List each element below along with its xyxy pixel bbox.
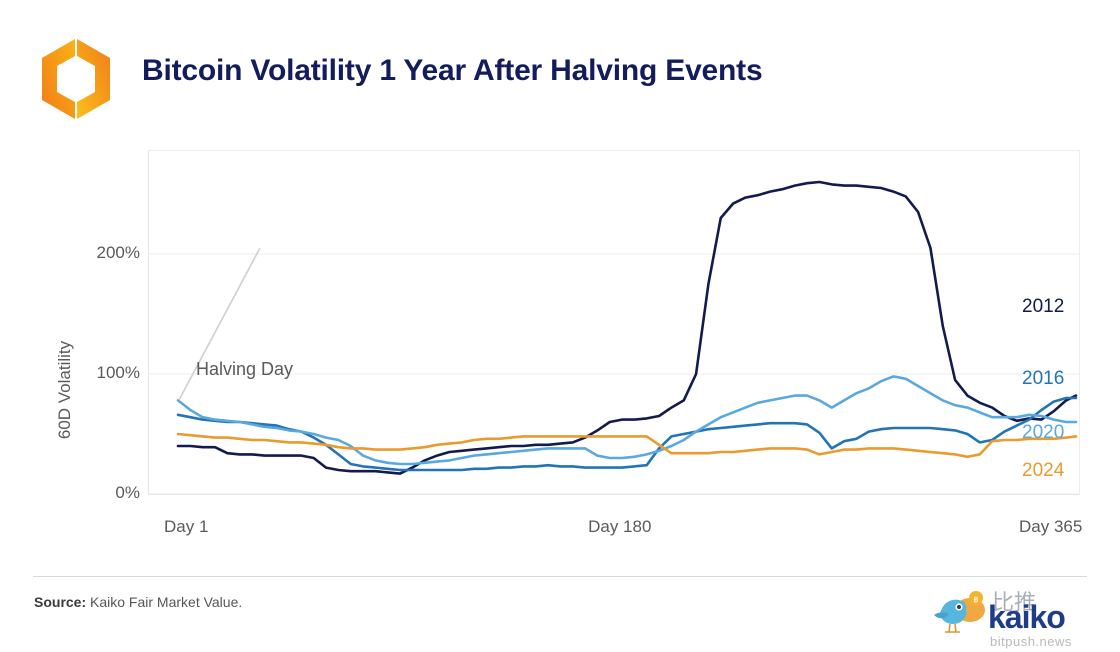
legend-label-2012: 2012: [1022, 296, 1064, 318]
chart-page: Bitcoin Volatility 1 Year After Halving …: [0, 0, 1120, 652]
legend-label-2020: 2020: [1022, 422, 1064, 444]
y-tick-label: 100%: [58, 363, 140, 383]
source-note: Source: Kaiko Fair Market Value.: [34, 594, 242, 610]
page-header: Bitcoin Volatility 1 Year After Halving …: [0, 0, 1120, 135]
source-text: Kaiko Fair Market Value.: [90, 594, 242, 610]
y-axis-ticks: 0%100%200%: [58, 135, 140, 510]
y-tick-label: 0%: [58, 483, 140, 503]
y-axis-title-wrap: 60D Volatility: [30, 230, 60, 420]
bitpush-watermark-text: bitpush.news: [990, 634, 1072, 649]
kaiko-text-logo: kaiko: [988, 599, 1065, 635]
chart-container: 60D Volatility 0%100%200% Halving Day Da…: [0, 135, 1120, 560]
bitpush-bird-icon: ฿: [934, 591, 985, 632]
page-title: Bitcoin Volatility 1 Year After Halving …: [142, 54, 762, 88]
svg-text:฿: ฿: [973, 595, 978, 604]
plot-lines: [148, 150, 1080, 495]
y-tick-label: 200%: [58, 243, 140, 263]
halving-day-annotation: Halving Day: [196, 359, 293, 380]
kaiko-hexagon-logo-icon: [36, 36, 116, 122]
series-lines: [178, 182, 1076, 474]
x-tick-label: Day 1: [164, 517, 208, 537]
x-tick-label: Day 365: [1019, 517, 1082, 537]
legend-label-2024: 2024: [1022, 460, 1064, 482]
source-label: Source:: [34, 594, 86, 610]
svg-text:kaiko: kaiko: [988, 599, 1065, 635]
page-footer: Source: Kaiko Fair Market Value. ฿: [0, 566, 1120, 652]
x-tick-label: Day 180: [588, 517, 651, 537]
footer-divider: [33, 576, 1087, 577]
legend-label-2016: 2016: [1022, 368, 1064, 390]
